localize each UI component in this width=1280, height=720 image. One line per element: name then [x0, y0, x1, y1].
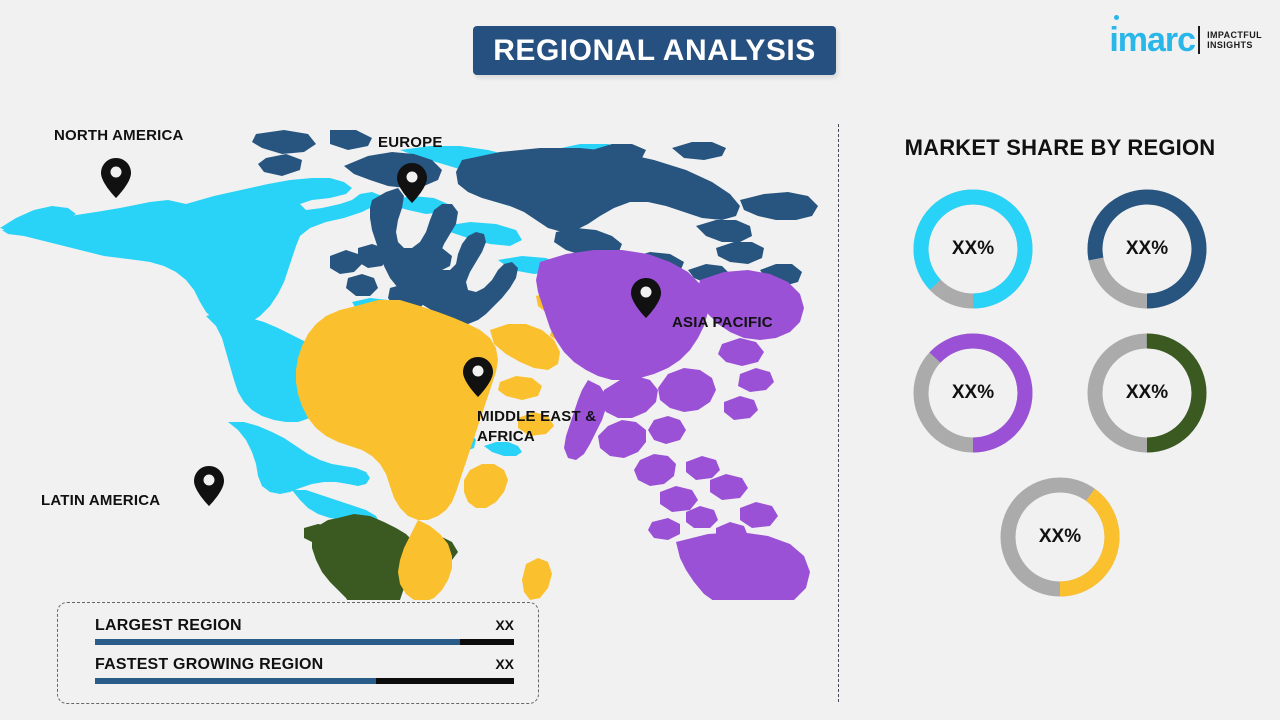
donut-value-label: XX%: [907, 183, 1039, 315]
donut-value-label: XX%: [1081, 183, 1213, 315]
stat-row-largest-region: LARGEST REGION XX: [95, 617, 514, 645]
stat-value-largest-region: XX: [495, 617, 514, 633]
map-label-latin-america: LATIN AMERICA: [41, 491, 160, 511]
stat-bar-fill: [95, 639, 460, 645]
donut-wrapper: XX%: [1081, 183, 1213, 315]
imarc-logo: imarc IMPACTFUL INSIGHTS: [1109, 20, 1262, 60]
page-title-banner: REGIONAL ANALYSIS: [473, 26, 836, 75]
market-share-panel: MARKET SHARE BY REGION XX%XX%XX%XX%XX%: [855, 125, 1265, 700]
map-pin-icon-north-america[interactable]: [101, 158, 131, 198]
map-label-europe: EUROPE: [378, 133, 443, 153]
donut-wrapper: XX%: [907, 183, 1039, 315]
donut-wrapper: XX%: [907, 327, 1039, 459]
market-share-title: MARKET SHARE BY REGION: [855, 135, 1265, 161]
donut-wrapper: XX%: [1081, 327, 1213, 459]
donut-chart-latin-america[interactable]: XX%: [1081, 327, 1213, 459]
donut-wrapper: XX%: [855, 471, 1265, 603]
map-pin-icon-middle-east-africa[interactable]: [463, 357, 493, 397]
region-stats-box: LARGEST REGION XX FASTEST GROWING REGION…: [57, 602, 539, 704]
logo-tagline: IMPACTFUL INSIGHTS: [1207, 30, 1262, 51]
stat-label-fastest-growing-region: FASTEST GROWING REGION: [95, 656, 323, 674]
map-label-north-america: NORTH AMERICA: [54, 126, 184, 146]
stat-value-fastest-growing-region: XX: [495, 656, 514, 672]
donut-chart-north-america[interactable]: XX%: [907, 183, 1039, 315]
logo-divider: [1198, 26, 1200, 54]
map-label-middle-east-africa: MIDDLE EAST & AFRICA: [477, 407, 637, 446]
stat-head: FASTEST GROWING REGION XX: [95, 656, 514, 674]
logo-wordmark: imarc: [1109, 23, 1195, 57]
donut-value-label: XX%: [1081, 327, 1213, 459]
logo-tagline-line1: IMPACTFUL: [1207, 30, 1262, 40]
logo-dot-icon: [1114, 15, 1119, 20]
donut-chart-asia-pacific[interactable]: XX%: [907, 327, 1039, 459]
stat-bar-fill: [95, 678, 376, 684]
infographic-canvas: REGIONAL ANALYSIS imarc IMPACTFUL INSIGH…: [0, 0, 1280, 720]
map-pin-icon-latin-america[interactable]: [194, 466, 224, 506]
panel-divider: [838, 124, 839, 702]
stat-head: LARGEST REGION XX: [95, 617, 514, 635]
donut-chart-europe[interactable]: XX%: [1081, 183, 1213, 315]
donut-value-label: XX%: [907, 327, 1039, 459]
stat-row-fastest-growing-region: FASTEST GROWING REGION XX: [95, 656, 514, 684]
map-pin-icon-asia-pacific[interactable]: [631, 278, 661, 318]
donut-value-label: XX%: [994, 471, 1126, 603]
stat-label-largest-region: LARGEST REGION: [95, 617, 242, 635]
donut-chart-middle-east-africa[interactable]: XX%: [994, 471, 1126, 603]
donut-chart-grid: XX%XX%XX%XX%XX%: [855, 183, 1265, 603]
map-pin-icon-europe[interactable]: [397, 163, 427, 203]
page-title: REGIONAL ANALYSIS: [493, 34, 815, 68]
map-label-asia-pacific: ASIA PACIFIC: [672, 313, 773, 333]
logo-tagline-line2: INSIGHTS: [1207, 40, 1262, 50]
stat-bar-largest-region: [95, 639, 514, 645]
stat-bar-fastest-growing-region: [95, 678, 514, 684]
